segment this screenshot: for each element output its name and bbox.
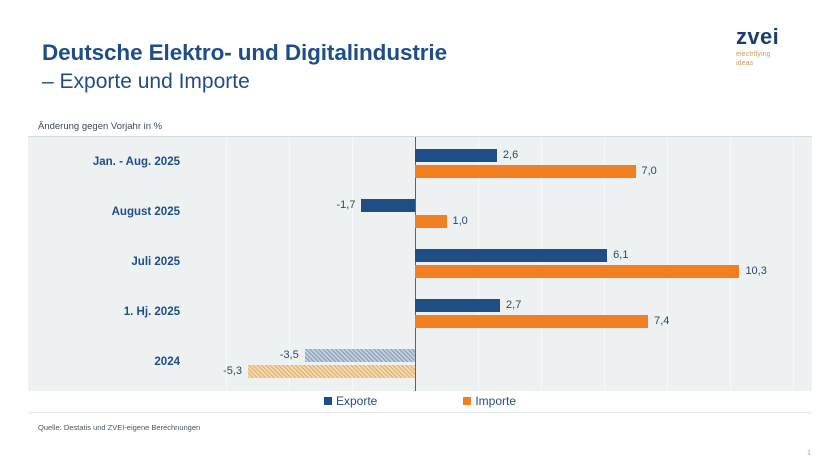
bar-exporte: [305, 349, 415, 362]
chart-row: 2024-3,5-5,3: [28, 339, 812, 389]
zvei-logo: zvei electrifying ideas: [736, 26, 822, 68]
bar-importe: [415, 215, 447, 228]
bar-exporte: [415, 249, 607, 262]
bar-exporte: [415, 299, 500, 312]
bar-value-label: 1,0: [453, 215, 468, 228]
bar-exporte: [361, 199, 415, 212]
legend-item-importe[interactable]: Importe: [463, 394, 516, 408]
bar-importe: [415, 165, 636, 178]
bar-value-label: 10,3: [745, 265, 766, 278]
footer-divider: [28, 412, 812, 413]
bar-value-label: 2,7: [506, 299, 521, 312]
legend-swatch-icon: [463, 397, 471, 405]
page-title-line-2: – Exporte und Importe: [42, 69, 662, 95]
chart-row: Juli 20256,110,3: [28, 239, 812, 289]
bar-value-label: -5,3: [223, 365, 242, 378]
row-category-label: Jan. - Aug. 2025: [28, 156, 180, 168]
bar-value-label: -1,7: [336, 199, 355, 212]
bar-importe: [248, 365, 415, 378]
bar-importe: [415, 315, 648, 328]
bar-chart: Jan. - Aug. 20252,67,0August 2025-1,71,0…: [28, 136, 812, 391]
bar-value-label: 7,4: [654, 315, 669, 328]
chart-row: Jan. - Aug. 20252,67,0: [28, 139, 812, 189]
bar-value-label: 6,1: [613, 249, 628, 262]
page-title: Deutsche Elektro- und Digitalindustrie –…: [42, 40, 662, 95]
chart-row: 1. Hj. 20252,77,4: [28, 289, 812, 339]
row-category-label: August 2025: [28, 206, 180, 218]
bar-value-label: 7,0: [642, 165, 657, 178]
legend-label: Exporte: [336, 394, 377, 408]
chart-legend: ExporteImporte: [28, 394, 812, 408]
legend-swatch-icon: [324, 397, 332, 405]
chart-caption: Änderung gegen Vorjahr in %: [38, 121, 162, 132]
legend-item-exporte[interactable]: Exporte: [324, 394, 377, 408]
logo-wordmark: zvei: [736, 26, 822, 48]
logo-tagline-line-1: electrifying: [736, 51, 822, 60]
row-category-label: Juli 2025: [28, 256, 180, 268]
page-number: 1: [807, 448, 811, 457]
logo-tagline: electrifying ideas: [736, 51, 822, 68]
bar-exporte: [415, 149, 497, 162]
page-title-line-1: Deutsche Elektro- und Digitalindustrie: [42, 40, 662, 67]
legend-label: Importe: [475, 394, 516, 408]
bar-value-label: 2,6: [503, 149, 518, 162]
source-note: Quelle: Destatis und ZVEI-eigene Berechn…: [38, 423, 200, 432]
row-category-label: 1. Hj. 2025: [28, 306, 180, 318]
chart-row: August 2025-1,71,0: [28, 189, 812, 239]
row-category-label: 2024: [28, 356, 180, 368]
logo-tagline-line-2: ideas: [736, 60, 822, 69]
bar-importe: [415, 265, 739, 278]
bar-value-label: -3,5: [280, 349, 299, 362]
